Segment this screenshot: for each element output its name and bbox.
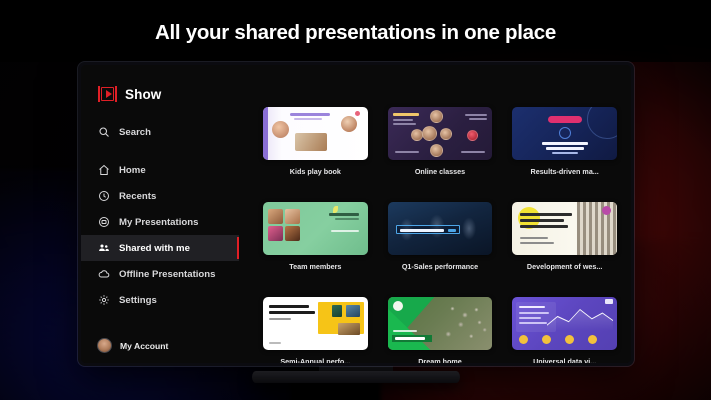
presentation-card[interactable]: Semi-Annual perfo... (263, 297, 368, 363)
clock-icon (98, 190, 110, 202)
presentation-card[interactable]: Dream home (388, 297, 493, 363)
people-icon (98, 242, 110, 254)
sidebar-item-label: Recents (119, 191, 156, 202)
sidebar-item-label: Search (119, 127, 151, 138)
thumbnail-team-members[interactable] (263, 202, 368, 255)
presentation-title: Results-driven ma... (512, 167, 617, 176)
presentation-title: Semi-Annual perfo... (263, 357, 368, 363)
brand-name: Show (125, 87, 161, 102)
sidebar-item-shared-with-me[interactable]: Shared with me (81, 235, 239, 261)
sidebar-item-label: My Presentations (119, 217, 198, 228)
screenshot-stage: All your shared presentations in one pla… (0, 0, 711, 400)
tv-screen: Show Search (81, 65, 631, 363)
app-sidebar: Show Search (81, 65, 239, 363)
sidebar-item-settings[interactable]: Settings (81, 287, 239, 313)
sidebar-item-my-presentations[interactable]: My Presentations (81, 209, 239, 235)
thumbnail-dream-home[interactable] (388, 297, 493, 350)
sidebar-item-search[interactable]: Search (81, 119, 239, 145)
thumbnail-results-driven-marketing[interactable] (512, 107, 617, 160)
thumbnail-development-of-western-civilization[interactable] (512, 202, 617, 255)
page-title: All your shared presentations in one pla… (0, 21, 711, 45)
account-label: My Account (120, 341, 168, 351)
presentation-title: Kids play book (263, 167, 368, 176)
sidebar-item-label: Home (119, 165, 146, 176)
presentation-card[interactable]: Team members (263, 202, 368, 271)
tv-stand-base (252, 371, 460, 383)
sidebar-item-my-account[interactable]: My Account (81, 338, 239, 353)
show-play-frame-icon (98, 86, 117, 102)
presentation-grid: Kids play book Online classes (263, 107, 617, 363)
presentation-card[interactable]: Development of wes... (512, 202, 617, 271)
sidebar-nav: Search Home (81, 119, 239, 313)
sidebar-item-home[interactable]: Home (81, 157, 239, 183)
presentation-icon (98, 216, 110, 228)
presentation-card[interactable]: Kids play book (263, 107, 368, 176)
thumbnail-semi-annual-performance-report[interactable] (263, 297, 368, 350)
sidebar-item-offline-presentations[interactable]: Offline Presentations (81, 261, 239, 287)
tv-frame: Show Search (78, 62, 634, 366)
presentation-title: Q1-Sales performance (388, 262, 493, 271)
presentation-title: Development of wes... (512, 262, 617, 271)
presentation-title: Universal data vi... (512, 357, 617, 363)
thumbnail-q1-sales-performance[interactable] (388, 202, 493, 255)
presentation-grid-panel: Kids play book Online classes (239, 65, 631, 363)
presentation-card[interactable]: Universal data vi... (512, 297, 617, 363)
thumbnail-universal-data-visualization[interactable] (512, 297, 617, 350)
app-brand: Show (81, 79, 239, 105)
presentation-title: Online classes (388, 167, 493, 176)
search-icon (98, 126, 110, 138)
presentation-card[interactable]: Online classes (388, 107, 493, 176)
cloud-offline-icon (98, 268, 110, 280)
home-icon (98, 164, 110, 176)
sidebar-item-label: Offline Presentations (119, 269, 216, 280)
gear-icon (98, 294, 110, 306)
presentation-card[interactable]: Q1-Sales performance (388, 202, 493, 271)
presentation-title: Dream home (388, 357, 493, 363)
sidebar-item-label: Shared with me (119, 243, 190, 254)
presentation-card[interactable]: Results-driven ma... (512, 107, 617, 176)
presentation-title: Team members (263, 262, 368, 271)
sidebar-item-label: Settings (119, 295, 157, 306)
thumbnail-online-classes[interactable] (388, 107, 493, 160)
sidebar-item-recents[interactable]: Recents (81, 183, 239, 209)
avatar (97, 338, 112, 353)
thumbnail-kids-play-book[interactable] (263, 107, 368, 160)
